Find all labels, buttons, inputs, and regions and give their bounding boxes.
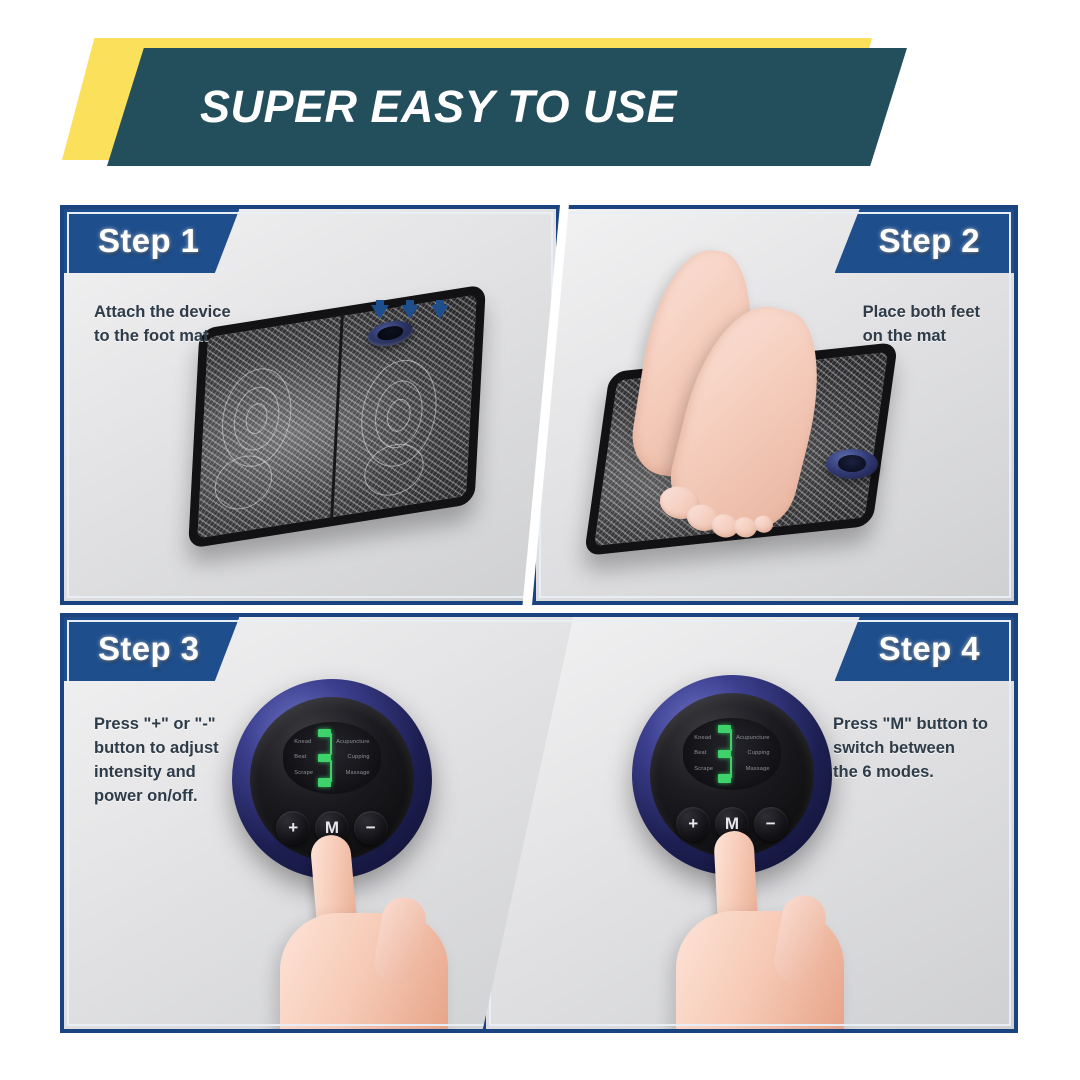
arrow-down-icon	[371, 305, 389, 319]
step-badge-4: Step 4	[835, 617, 1014, 681]
display-left-labels: Knead Beat Scrape	[694, 726, 713, 781]
step-caption-4: Press "M" button to switch between the 6…	[833, 713, 988, 785]
step-panel-2: Step 2 Place both feet on the mat	[532, 205, 1018, 605]
mode-label: Cupping	[347, 754, 369, 760]
banner-teal-plate: SUPER EASY TO USE	[107, 48, 907, 166]
seg-bottom	[718, 774, 731, 783]
mode-label: Acupuncture	[336, 739, 370, 745]
seg-bottom	[318, 778, 331, 787]
step-badge-2: Step 2	[835, 209, 1014, 273]
step-badge-label: Step 4	[879, 630, 980, 668]
seg-top-right	[330, 733, 332, 755]
step-panel-1: Step 1 Attach the device to the foot mat	[60, 205, 560, 605]
display-digit-3	[717, 725, 732, 783]
step-caption-2: Place both feet on the mat	[863, 301, 980, 349]
step-panel-4: Knead Beat Scrape	[482, 613, 1018, 1033]
mode-icon: M	[325, 819, 339, 836]
step-badge-label: Step 3	[98, 630, 199, 668]
mode-label: Beat	[694, 750, 706, 756]
mode-label: Massage	[346, 770, 370, 776]
step-badge-1: Step 1	[64, 209, 239, 273]
display-left-labels: Knead Beat Scrape	[294, 730, 313, 785]
minus-icon: −	[366, 819, 376, 836]
display-right-labels: Acupuncture Cupping Massage	[736, 726, 770, 781]
arrow-down-icon	[431, 305, 449, 319]
step-caption-3: Press "+" or "-" button to adjust intens…	[94, 713, 219, 809]
arrow-down-icon	[401, 305, 419, 319]
mode-icon: M	[725, 815, 739, 832]
step-badge-label: Step 2	[879, 222, 980, 260]
mode-label: Acupuncture	[736, 735, 770, 741]
mode-label: Scrape	[694, 766, 713, 772]
mode-label: Beat	[294, 754, 306, 760]
mode-label: Massage	[746, 766, 770, 772]
display-digit-3	[317, 729, 332, 787]
mode-label: Knead	[694, 735, 711, 741]
minus-icon: −	[766, 815, 776, 832]
foot-mat	[188, 284, 486, 549]
step-caption-1: Attach the device to the foot mat	[94, 301, 231, 349]
mode-label: Scrape	[294, 770, 313, 776]
controller-display: Knead Beat Scrape	[283, 722, 381, 794]
mode-label: Cupping	[747, 750, 769, 756]
display-right-labels: Acupuncture Cupping Massage	[336, 730, 370, 785]
mode-label: Knead	[294, 739, 311, 745]
controller-display: Knead Beat Scrape	[683, 718, 781, 790]
banner-title: SUPER EASY TO USE	[200, 81, 677, 133]
pointing-hand	[274, 835, 504, 1033]
plus-icon: +	[288, 819, 298, 836]
header-banner: SUPER EASY TO USE	[0, 0, 1080, 185]
pointing-hand	[666, 831, 896, 1033]
step-badge-label: Step 1	[98, 222, 199, 260]
promo-infographic: SUPER EASY TO USE	[0, 0, 1080, 1080]
control-pod	[826, 449, 878, 479]
down-arrows	[371, 305, 449, 319]
steps-grid: Step 1 Attach the device to the foot mat	[60, 205, 1018, 1033]
plus-icon: +	[688, 815, 698, 832]
step-badge-3: Step 3	[64, 617, 239, 681]
seg-top-right	[730, 729, 732, 751]
